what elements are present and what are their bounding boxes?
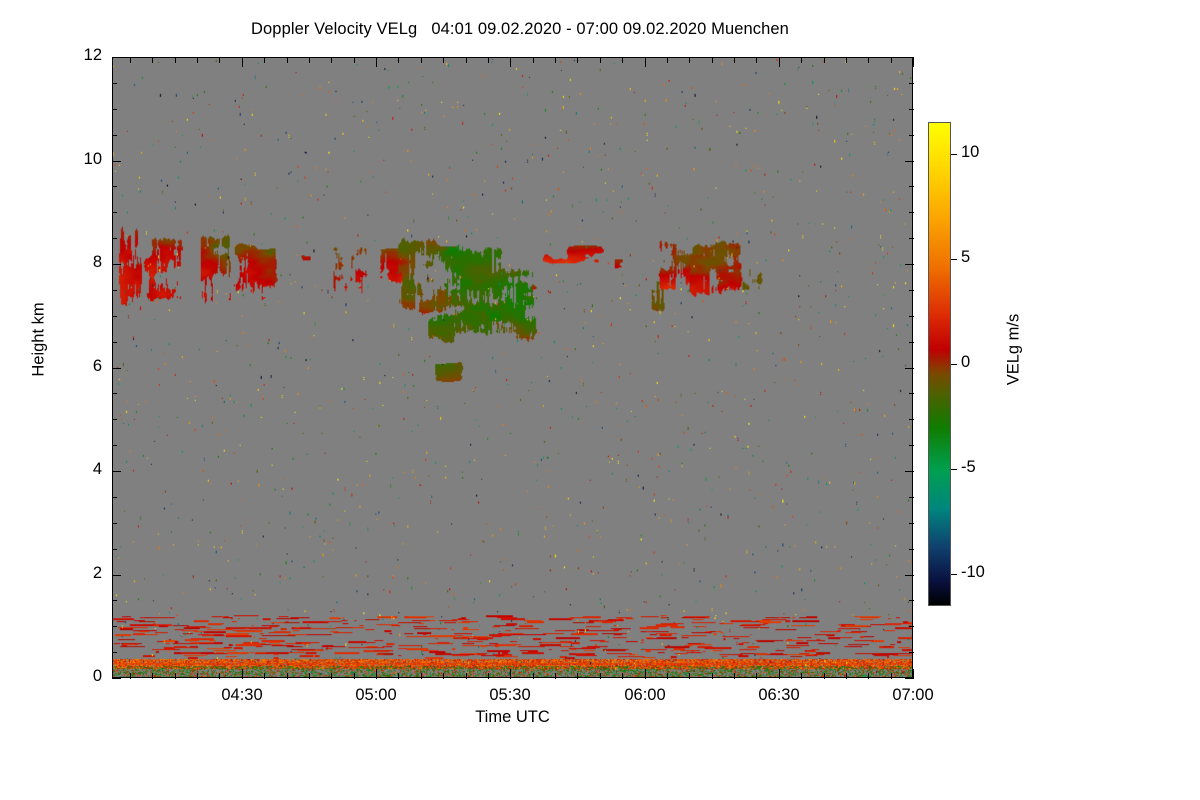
colorbar-tick xyxy=(951,469,957,470)
x-tick-label: 04:30 xyxy=(197,686,287,705)
x-tick-minor xyxy=(287,673,288,679)
x-tick-major-top xyxy=(645,58,646,67)
x-tick-minor-top xyxy=(577,58,578,63)
colorbar-tick-label: 5 xyxy=(961,248,970,267)
x-tick-minor-top xyxy=(175,58,176,63)
x-tick-minor-top xyxy=(354,58,355,63)
x-tick-minor-top xyxy=(443,58,444,63)
x-tick-major xyxy=(913,669,914,679)
y-tick-minor-right xyxy=(909,393,914,394)
x-tick-minor xyxy=(264,673,265,679)
y-tick-minor-right xyxy=(909,135,914,136)
x-tick-label: 07:00 xyxy=(868,686,958,705)
x-tick-minor xyxy=(622,673,623,679)
x-tick-minor-top xyxy=(891,58,892,63)
y-tick-minor-right xyxy=(909,342,914,343)
y-tick-minor-right xyxy=(909,419,914,420)
x-tick-minor xyxy=(466,673,467,679)
y-tick-minor xyxy=(112,652,117,653)
y-tick-minor-right xyxy=(909,186,914,187)
y-tick-minor xyxy=(112,393,117,394)
x-tick-minor-top xyxy=(756,58,757,63)
colorbar-tick-label: -10 xyxy=(961,563,985,582)
x-tick-major xyxy=(510,669,511,679)
x-tick-major-top xyxy=(376,58,377,67)
x-tick-minor-top xyxy=(712,58,713,63)
x-tick-label: 06:30 xyxy=(734,686,824,705)
x-tick-minor-top xyxy=(466,58,467,63)
y-tick-minor-right xyxy=(909,238,914,239)
x-tick-minor-top xyxy=(130,58,131,63)
x-tick-minor xyxy=(175,673,176,679)
y-tick-major xyxy=(112,264,121,265)
x-tick-minor xyxy=(309,673,310,679)
y-tick-minor xyxy=(112,497,117,498)
x-tick-minor xyxy=(824,673,825,679)
y-tick-minor xyxy=(112,109,117,110)
x-tick-minor xyxy=(533,673,534,679)
x-tick-minor xyxy=(488,673,489,679)
y-tick-minor-right xyxy=(909,212,914,213)
y-tick-minor-right xyxy=(909,523,914,524)
x-tick-minor-top xyxy=(264,58,265,63)
x-tick-minor-top xyxy=(421,58,422,63)
page-title: Doppler Velocity VELg 04:01 09.02.2020 -… xyxy=(0,20,1040,39)
y-tick-minor xyxy=(112,316,117,317)
y-tick-minor xyxy=(112,419,117,420)
x-axis-title: Time UTC xyxy=(112,708,913,727)
x-tick-minor-top xyxy=(868,58,869,63)
y-tick-minor xyxy=(112,342,117,343)
y-tick-major xyxy=(112,368,121,369)
y-tick-minor xyxy=(112,135,117,136)
colorbar-tick-label: -5 xyxy=(961,458,976,477)
x-tick-major-top xyxy=(913,58,914,67)
x-tick-major xyxy=(376,669,377,679)
x-tick-minor-top xyxy=(331,58,332,63)
y-tick-minor xyxy=(112,549,117,550)
y-tick-minor-right xyxy=(909,600,914,601)
y-tick-label: 8 xyxy=(56,253,102,272)
x-tick-minor-top xyxy=(734,58,735,63)
y-tick-minor xyxy=(112,186,117,187)
x-tick-minor xyxy=(421,673,422,679)
y-tick-major xyxy=(112,471,121,472)
x-tick-major-top xyxy=(242,58,243,67)
x-tick-major-top xyxy=(779,58,780,67)
y-axis-title: Height km xyxy=(30,270,49,410)
x-tick-major xyxy=(779,669,780,679)
x-tick-minor xyxy=(689,673,690,679)
x-tick-minor-top xyxy=(488,58,489,63)
x-tick-minor xyxy=(846,673,847,679)
x-tick-minor-top xyxy=(309,58,310,63)
x-tick-minor-top xyxy=(622,58,623,63)
x-tick-minor xyxy=(331,673,332,679)
x-tick-minor xyxy=(219,673,220,679)
x-tick-minor xyxy=(443,673,444,679)
x-tick-major xyxy=(645,669,646,679)
x-tick-minor xyxy=(891,673,892,679)
y-tick-major-right xyxy=(905,575,914,576)
y-tick-minor-right xyxy=(909,316,914,317)
y-tick-minor xyxy=(112,212,117,213)
y-tick-label: 10 xyxy=(56,150,102,169)
x-tick-minor-top xyxy=(287,58,288,63)
x-tick-label: 05:00 xyxy=(331,686,421,705)
x-tick-minor-top xyxy=(801,58,802,63)
y-tick-minor-right xyxy=(909,83,914,84)
colorbar-tick xyxy=(951,259,957,260)
y-tick-label: 4 xyxy=(56,460,102,479)
y-tick-minor xyxy=(112,445,117,446)
y-tick-minor xyxy=(112,600,117,601)
y-tick-minor-right xyxy=(909,497,914,498)
y-tick-major xyxy=(112,161,121,162)
x-tick-minor xyxy=(130,673,131,679)
x-tick-minor-top xyxy=(555,58,556,63)
x-tick-minor xyxy=(756,673,757,679)
y-tick-minor-right xyxy=(909,445,914,446)
colorbar-gradient xyxy=(929,123,950,605)
doppler-velocity-heatmap[interactable] xyxy=(113,58,912,677)
x-tick-minor xyxy=(868,673,869,679)
colorbar-tick xyxy=(951,154,957,155)
y-tick-minor-right xyxy=(909,290,914,291)
y-tick-label: 12 xyxy=(56,46,102,65)
y-tick-minor xyxy=(112,626,117,627)
x-tick-minor-top xyxy=(533,58,534,63)
x-tick-minor xyxy=(734,673,735,679)
x-tick-minor-top xyxy=(667,58,668,63)
y-tick-minor-right xyxy=(909,109,914,110)
x-tick-minor-top xyxy=(219,58,220,63)
y-tick-minor-right xyxy=(909,549,914,550)
x-tick-minor xyxy=(712,673,713,679)
colorbar-tick xyxy=(951,364,957,365)
x-tick-minor xyxy=(354,673,355,679)
x-tick-minor-top xyxy=(600,58,601,63)
y-tick-major-right xyxy=(905,161,914,162)
colorbar[interactable] xyxy=(928,122,951,606)
x-tick-minor-top xyxy=(152,58,153,63)
x-tick-label: 06:00 xyxy=(600,686,690,705)
colorbar-tick-label: 0 xyxy=(961,353,970,372)
y-tick-label: 6 xyxy=(56,357,102,376)
x-tick-minor xyxy=(667,673,668,679)
y-tick-minor xyxy=(112,523,117,524)
y-tick-major xyxy=(112,678,121,679)
y-tick-major-right xyxy=(905,368,914,369)
y-tick-minor xyxy=(112,290,117,291)
x-tick-minor xyxy=(577,673,578,679)
heatmap-plot-area[interactable] xyxy=(112,57,913,678)
y-tick-minor-right xyxy=(909,652,914,653)
x-tick-major xyxy=(242,669,243,679)
y-tick-major xyxy=(112,57,121,58)
x-tick-minor-top xyxy=(824,58,825,63)
x-tick-minor-top xyxy=(846,58,847,63)
x-tick-minor xyxy=(152,673,153,679)
x-tick-minor-top xyxy=(689,58,690,63)
y-tick-major xyxy=(112,575,121,576)
y-tick-major-right xyxy=(905,471,914,472)
x-tick-minor-top xyxy=(398,58,399,63)
y-tick-minor xyxy=(112,238,117,239)
doppler-velocity-figure: Doppler Velocity VELg 04:01 09.02.2020 -… xyxy=(0,0,1200,800)
colorbar-tick-label: 10 xyxy=(961,143,979,162)
y-tick-label: 0 xyxy=(56,667,102,686)
colorbar-title: VELg m/s xyxy=(1005,260,1024,440)
x-tick-minor xyxy=(398,673,399,679)
x-tick-minor xyxy=(600,673,601,679)
y-tick-major-right xyxy=(905,264,914,265)
x-tick-minor xyxy=(555,673,556,679)
x-tick-minor-top xyxy=(197,58,198,63)
colorbar-tick xyxy=(951,574,957,575)
x-tick-label: 05:30 xyxy=(465,686,555,705)
y-tick-minor-right xyxy=(909,626,914,627)
x-tick-major-top xyxy=(510,58,511,67)
x-tick-minor xyxy=(801,673,802,679)
x-tick-minor xyxy=(197,673,198,679)
y-tick-minor xyxy=(112,83,117,84)
y-tick-label: 2 xyxy=(56,564,102,583)
